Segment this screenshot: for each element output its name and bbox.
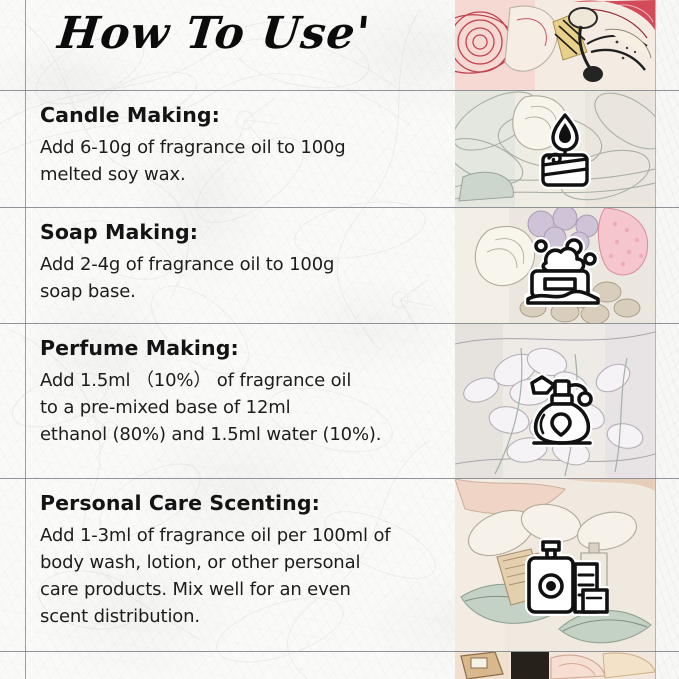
section-candle-making: Candle Making: Add 6-10g of fragrance oi…	[25, 91, 455, 207]
body-line: scent distribution.	[40, 603, 437, 630]
body-line: ethanol (80%) and 1.5ml water (10%).	[40, 421, 437, 448]
section-body-personal-care-scenting: Add 1-3ml of fragrance oil per 100ml of …	[40, 522, 437, 630]
body-line: to a pre-mixed base of 12ml	[40, 394, 437, 421]
section-heading-soap-making: Soap Making:	[40, 220, 437, 244]
section-personal-care-scenting: Personal Care Scenting: Add 1-3ml of fra…	[25, 479, 455, 651]
body-line: soap base.	[40, 278, 437, 305]
cosmetic-bottles-icon	[521, 534, 609, 618]
page-title: How To Use'	[55, 8, 372, 59]
body-line: body wash, lotion, or other personal	[40, 549, 437, 576]
body-line: care products. Mix well for an even	[40, 576, 437, 603]
section-body-soap-making: Add 2-4g of fragrance oil to 100g soap b…	[40, 251, 437, 305]
section-soap-making: Soap Making: Add 2-4g of fragrance oil t…	[25, 208, 455, 323]
section-heading-perfume-making: Perfume Making:	[40, 336, 437, 360]
section-perfume-making: Perfume Making: Add 1.5ml （10%） of fragr…	[25, 324, 455, 478]
how-to-use-infographic: How To Use' Candle Making: Add 6-10g of …	[0, 0, 679, 679]
section-body-perfume-making: Add 1.5ml （10%） of fragrance oil to a pr…	[40, 367, 437, 448]
right-margin-rule	[655, 0, 656, 679]
candle-icon	[527, 109, 603, 189]
soap-icon-badge	[510, 225, 620, 317]
photo-roses-insect	[455, 0, 655, 90]
title-band: How To Use'	[25, 0, 455, 90]
personal-care-icon-badge	[510, 530, 620, 622]
body-line: Add 1-3ml of fragrance oil per 100ml of	[40, 522, 437, 549]
perfume-icon-badge	[510, 365, 620, 457]
divider-rule-5	[0, 651, 679, 652]
body-line: melted soy wax.	[40, 161, 437, 188]
right-margin-strip	[655, 0, 679, 679]
body-line: Add 2-4g of fragrance oil to 100g	[40, 251, 437, 278]
soap-bar-bubbles-icon	[522, 233, 608, 309]
section-heading-candle-making: Candle Making:	[40, 103, 437, 127]
body-line: Add 1.5ml （10%） of fragrance oil	[40, 367, 437, 394]
candle-icon-badge	[510, 103, 620, 195]
body-line: Add 6-10g of fragrance oil to 100g	[40, 134, 437, 161]
perfume-atomizer-icon	[522, 371, 608, 451]
section-body-candle-making: Add 6-10g of fragrance oil to 100g melte…	[40, 134, 437, 188]
photo-bottom-blossoms	[455, 652, 655, 679]
section-heading-personal-care-scenting: Personal Care Scenting:	[40, 491, 437, 515]
